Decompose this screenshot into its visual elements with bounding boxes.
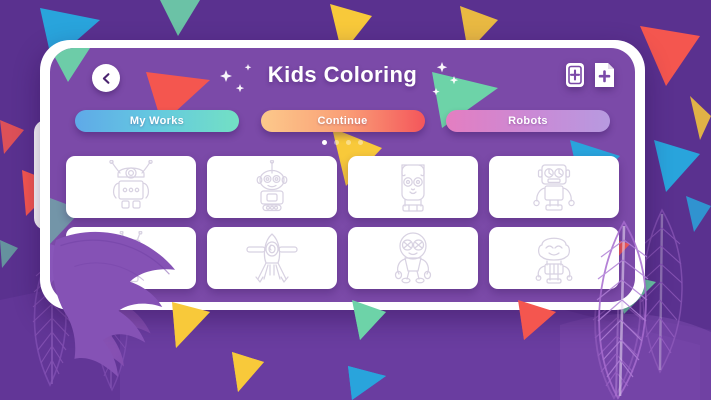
pager-dot-1[interactable] <box>322 140 327 145</box>
coloring-card-robot-rocket[interactable] <box>207 227 337 289</box>
document-plus-icon <box>594 62 615 88</box>
coloring-card-robot-smiley-cat[interactable] <box>489 227 619 289</box>
coloring-card-robot-boxy[interactable] <box>489 156 619 218</box>
pager-dot-3[interactable] <box>346 140 351 145</box>
tab-my-works[interactable]: My Works <box>75 110 239 132</box>
robot-tall-antenna-art <box>101 231 161 285</box>
robot-smiley-cat-art <box>524 231 584 285</box>
add-page-button[interactable] <box>594 62 615 93</box>
coloring-card-robot-tall-antenna[interactable] <box>66 227 196 289</box>
robot-puppy-art <box>383 160 443 214</box>
coloring-card-robot-big-eyes[interactable] <box>348 227 478 289</box>
robot-big-eyes-art <box>383 231 443 285</box>
tab-continue-label: Continue <box>317 115 367 127</box>
pager-dots <box>50 140 635 145</box>
screen-header: Kids Coloring <box>50 48 635 106</box>
page-title: Kids Coloring <box>50 62 635 88</box>
tab-bar: My Works Continue Robots <box>50 110 635 132</box>
app-screen: Kids Coloring <box>50 48 635 302</box>
coloring-gallery-grid <box>50 156 635 289</box>
tab-continue[interactable]: Continue <box>261 110 425 132</box>
app-background: Kids Coloring <box>0 0 711 400</box>
coloring-card-robot-dome-antenna[interactable] <box>66 156 196 218</box>
robot-boxy-art <box>524 160 584 214</box>
add-card-button[interactable] <box>565 62 585 93</box>
robot-dome-antenna-art <box>101 160 161 214</box>
coloring-card-robot-round-head[interactable] <box>207 156 337 218</box>
header-actions <box>565 62 615 93</box>
tab-my-works-label: My Works <box>130 115 184 127</box>
pager-dot-4[interactable] <box>358 140 363 145</box>
robot-rocket-art <box>242 231 302 285</box>
tab-robots[interactable]: Robots <box>446 110 610 132</box>
card-plus-icon <box>565 62 585 88</box>
tab-robots-label: Robots <box>508 115 548 127</box>
pager-dot-2[interactable] <box>334 140 339 145</box>
coloring-card-robot-puppy[interactable] <box>348 156 478 218</box>
robot-round-head-art <box>242 160 302 214</box>
